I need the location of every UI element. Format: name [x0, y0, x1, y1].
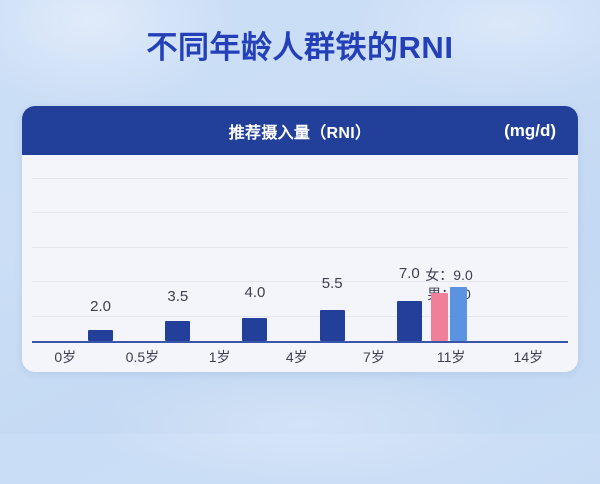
gridline-5	[32, 316, 568, 317]
bar-slot-0sui[interactable]: 2.0	[65, 161, 136, 341]
bar-slot-4sui[interactable]: 5.5	[297, 161, 368, 341]
bar-1sui[interactable]	[242, 318, 267, 341]
xtick-0sui: 0岁	[54, 347, 76, 367]
card-header: 推荐摄入量（RNI） (mg/d)	[22, 106, 578, 155]
chart-plot-area: 2.0 3.5 4.0 5.5	[22, 155, 578, 372]
bar-0sui[interactable]	[88, 330, 113, 341]
bar-slot-11sui[interactable]	[451, 161, 522, 341]
card-header-unit: (mg/d)	[504, 121, 556, 141]
xtick-1sui: 1岁	[209, 347, 231, 367]
pair-label-female: 女：9.0	[425, 266, 472, 285]
gridline-1	[32, 178, 568, 179]
rni-chart-card: 推荐摄入量（RNI） (mg/d) 2.0 3.5	[22, 106, 578, 372]
background-highlight-bottom	[90, 364, 510, 484]
bar-value-1sui: 4.0	[245, 284, 266, 301]
bars-container: 2.0 3.5 4.0 5.5	[32, 161, 568, 341]
bar-14sui-male[interactable]	[450, 287, 467, 341]
card-header-title: 推荐摄入量（RNI）	[229, 119, 372, 143]
bar-05sui[interactable]	[165, 321, 190, 341]
bar-slot-14sui-pair[interactable]: 女：9.0 男：10	[414, 161, 485, 341]
bar-4sui[interactable]	[320, 310, 345, 341]
page-title: 不同年龄人群铁的RNI	[0, 28, 600, 68]
bar-14sui-female[interactable]	[431, 293, 448, 341]
bar-slot-7sui[interactable]: 7.0	[374, 161, 445, 341]
gridline-2	[32, 212, 568, 213]
xtick-4sui: 4岁	[286, 347, 308, 367]
bar-value-0sui: 2.0	[90, 298, 111, 315]
gridline-4	[32, 281, 568, 282]
bar-7sui[interactable]	[397, 301, 422, 341]
xtick-11sui: 11岁	[437, 347, 466, 367]
bar-value-7sui: 7.0	[399, 265, 420, 282]
gridline-3	[32, 247, 568, 248]
bar-value-05sui: 3.5	[167, 288, 188, 305]
x-axis-labels: 0岁 0.5岁 1岁 4岁 7岁 11岁 14岁	[32, 342, 568, 372]
xtick-05sui: 0.5岁	[126, 347, 159, 367]
bar-slot-1sui[interactable]: 4.0	[220, 161, 291, 341]
xtick-7sui: 7岁	[363, 347, 385, 367]
pair-label-male: 男：10	[427, 285, 471, 304]
xtick-14sui: 14岁	[514, 347, 544, 367]
bar-value-4sui: 5.5	[322, 275, 343, 292]
bar-slot-05sui[interactable]: 3.5	[142, 161, 213, 341]
